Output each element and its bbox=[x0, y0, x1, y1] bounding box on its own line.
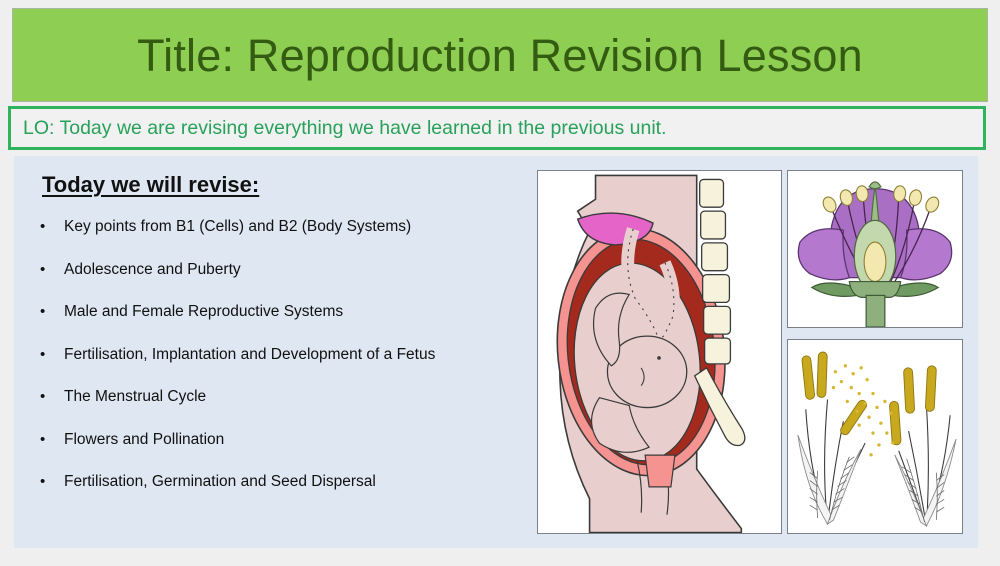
bullet-point-icon: • bbox=[28, 346, 64, 364]
list-item-label: Fertilisation, Implantation and Developm… bbox=[64, 346, 435, 363]
content-panel: Today we will revise: • Key points from … bbox=[14, 156, 978, 548]
fetus-in-uterus-diagram bbox=[537, 170, 782, 534]
slide: Title: Reproduction Revision Lesson LO: … bbox=[0, 0, 1000, 566]
flower-stigma bbox=[869, 182, 881, 189]
list-item-label: Key points from B1 (Cells) and B2 (Body … bbox=[64, 218, 411, 235]
revision-bullet-list: • Key points from B1 (Cells) and B2 (Bod… bbox=[28, 218, 538, 491]
bullet-point-icon: • bbox=[28, 218, 64, 236]
list-item: • Flowers and Pollination bbox=[28, 431, 538, 449]
list-item-label: Flowers and Pollination bbox=[64, 431, 224, 448]
list-item: • Fertilisation, Germination and Seed Di… bbox=[28, 473, 538, 491]
list-item: • Fertilisation, Implantation and Develo… bbox=[28, 346, 538, 364]
list-item: • Male and Female Reproductive Systems bbox=[28, 303, 538, 321]
bullet-point-icon: • bbox=[28, 473, 64, 491]
right-grass-leaves bbox=[895, 439, 956, 526]
learning-objective-text: LO: Today we are revising everything we … bbox=[11, 117, 667, 140]
wind-pollination-diagram bbox=[787, 339, 963, 534]
bullet-point-icon: • bbox=[28, 261, 64, 279]
list-item: • Adolescence and Puberty bbox=[28, 261, 538, 279]
bullet-point-icon: • bbox=[28, 303, 64, 321]
revision-list-column: Today we will revise: • Key points from … bbox=[28, 164, 538, 540]
section-heading: Today we will revise: bbox=[42, 172, 259, 198]
list-item: • The Menstrual Cycle bbox=[28, 388, 538, 406]
list-item-label: Adolescence and Puberty bbox=[64, 261, 241, 278]
flower-cross-section-diagram bbox=[787, 170, 963, 328]
page-title: Title: Reproduction Revision Lesson bbox=[137, 33, 863, 78]
flower-right-petal bbox=[901, 229, 952, 280]
list-item-label: The Menstrual Cycle bbox=[64, 388, 206, 405]
list-item-label: Male and Female Reproductive Systems bbox=[64, 303, 343, 320]
list-item-label: Fertilisation, Germination and Seed Disp… bbox=[64, 473, 376, 490]
fetus-eye bbox=[657, 356, 661, 360]
bullet-point-icon: • bbox=[28, 388, 64, 406]
list-item: • Key points from B1 (Cells) and B2 (Bod… bbox=[28, 218, 538, 236]
flower-stem bbox=[866, 295, 885, 327]
right-anthers bbox=[889, 366, 936, 445]
cervix bbox=[645, 455, 675, 487]
learning-objective-bar: LO: Today we are revising everything we … bbox=[8, 106, 986, 150]
bullet-point-icon: • bbox=[28, 431, 64, 449]
flower-left-petal bbox=[798, 229, 849, 280]
title-banner: Title: Reproduction Revision Lesson bbox=[12, 8, 988, 102]
flower-ovule bbox=[864, 242, 886, 281]
